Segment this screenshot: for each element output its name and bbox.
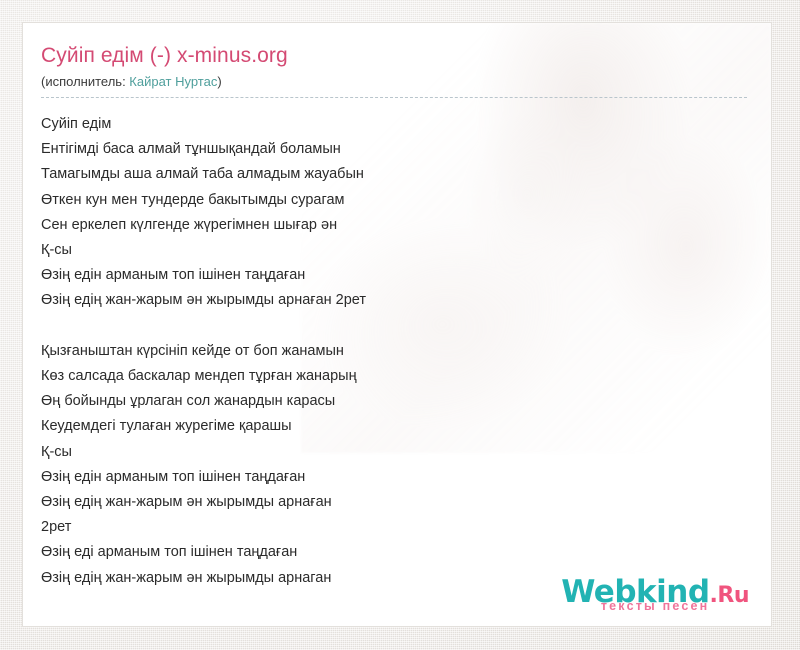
lyric-line: 2рет xyxy=(41,515,747,540)
lyric-line: Көз салсада баскалар мендеп тұрған жанар… xyxy=(41,364,747,389)
lyric-line: Өзің едің жан-жарым ән жырымды арнаған xyxy=(41,490,747,515)
artist-line: (исполнитель: Кайрат Нуртас) xyxy=(41,73,747,98)
lyric-line: Кеудемдегі тулаған журегіме қарашы xyxy=(41,414,747,439)
artist-suffix-label: ) xyxy=(217,74,221,89)
lyric-line: Өзің едін арманым топ ішінен таңдаған xyxy=(41,263,747,288)
lyric-line: Өзің едің жан-жарым ән жырымды арнаған 2… xyxy=(41,288,747,313)
lyric-line: Тамагымды аша алмай таба алмадым жауабын xyxy=(41,162,747,187)
lyric-line: Қ-сы xyxy=(41,440,747,465)
lyric-line: Қ-сы xyxy=(41,238,747,263)
artist-prefix-label: (исполнитель: xyxy=(41,74,129,89)
lyric-line: Өткен кун мен тундерде бакытымды сурагам xyxy=(41,188,747,213)
lyric-line: Сен еркелеп күлгенде жүрегімнен шығар ән xyxy=(41,213,747,238)
panel-inner-content: Суйіп едім (-) x-minus.org (исполнитель:… xyxy=(23,23,771,591)
site-logo: Webkind.Ru тексты песен xyxy=(561,577,749,613)
lyric-line: Өзің едін арманым топ ішінен таңдаған xyxy=(41,465,747,490)
artist-link[interactable]: Кайрат Нуртас xyxy=(129,74,217,89)
lyric-line: Қызғаныштан күрсініп кейде от боп жанамы… xyxy=(41,339,747,364)
lyric-line: Ентігімді баса алмай тұншықандай боламын xyxy=(41,137,747,162)
lyrics-content-panel: Суйіп едім (-) x-minus.org (исполнитель:… xyxy=(22,22,772,627)
lyric-line-blank xyxy=(41,314,747,339)
lyrics-text-block: Суйіп едімЕнтігімді баса алмай тұншықанд… xyxy=(41,112,747,591)
lyric-line: Өзің еді арманым топ ішінен таңдаған xyxy=(41,540,747,565)
lyric-line: Суйіп едім xyxy=(41,112,747,137)
lyric-line: Өң бойынды ұрлаган сол жанардын карасы xyxy=(41,389,747,414)
page-title: Суйіп едім (-) x-minus.org xyxy=(41,43,747,69)
logo-tagline: тексты песен xyxy=(561,600,749,613)
